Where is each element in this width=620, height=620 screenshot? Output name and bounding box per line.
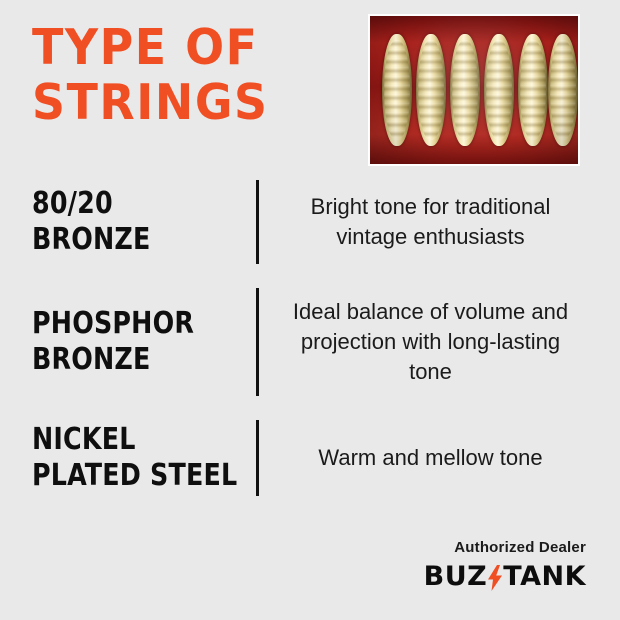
list-item: NICKEL PLATED STEEL Warm and mellow tone <box>0 408 620 508</box>
string-type-name-line-1: NICKEL <box>32 422 243 458</box>
vertical-divider <box>256 180 259 264</box>
page-title: TYPE OF STRINGS <box>32 20 375 130</box>
brand-name-part-1: BUZ <box>424 562 488 592</box>
string-type-name: PHOSPHOR BRONZE <box>32 306 243 378</box>
infographic-root: TYPE OF STRINGS 80/20 BRONZE Bright tone… <box>0 0 620 620</box>
footer: Authorized Dealer BUZ TANK <box>424 539 586 592</box>
string-type-list: 80/20 BRONZE Bright tone for traditional… <box>0 168 620 508</box>
string-type-description: Bright tone for traditional vintage enth… <box>277 192 590 252</box>
string-type-name: NICKEL PLATED STEEL <box>32 422 243 494</box>
brand-name-part-2: TANK <box>503 562 586 592</box>
string-type-description: Warm and mellow tone <box>277 443 590 473</box>
authorized-dealer-label: Authorized Dealer <box>424 539 586 556</box>
brand-logo: BUZ TANK <box>424 562 586 592</box>
header: TYPE OF STRINGS <box>0 0 620 168</box>
vertical-divider <box>256 288 259 396</box>
string-type-name: 80/20 BRONZE <box>32 186 243 258</box>
title-line-2: STRINGS <box>32 75 375 130</box>
string-type-name-line-1: 80/20 <box>32 186 243 222</box>
title-line-1: TYPE OF <box>32 20 375 75</box>
list-item: PHOSPHOR BRONZE Ideal balance of volume … <box>0 276 620 408</box>
string-type-description: Ideal balance of volume and projection w… <box>277 297 590 387</box>
guitar-string-coil-photo <box>368 14 580 166</box>
string-type-name-line-2: BRONZE <box>32 222 243 258</box>
lightning-bolt-icon <box>488 565 502 591</box>
vertical-divider <box>256 420 259 496</box>
string-type-name-line-2: BRONZE <box>32 342 243 378</box>
list-item: 80/20 BRONZE Bright tone for traditional… <box>0 168 620 276</box>
photo-sheen-overlay <box>370 16 578 164</box>
string-type-name-line-2: PLATED STEEL <box>32 458 243 494</box>
string-type-name-line-1: PHOSPHOR <box>32 306 243 342</box>
